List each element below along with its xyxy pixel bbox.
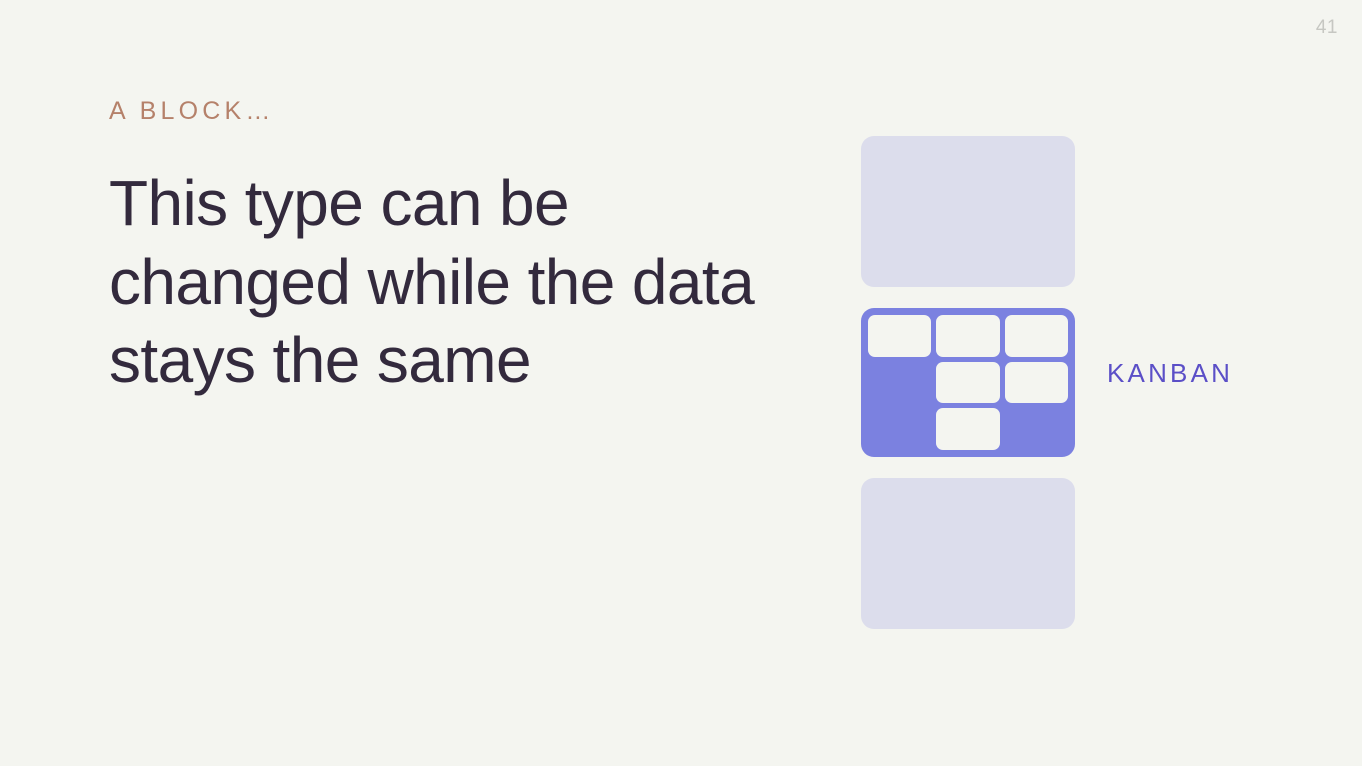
eyebrow-label: A BLOCK… <box>109 96 789 126</box>
page-number: 41 <box>1316 18 1338 37</box>
placeholder-block-bottom <box>861 478 1075 629</box>
graphic-column <box>861 136 1075 629</box>
kanban-label: KANBAN <box>1107 360 1233 386</box>
text-column: A BLOCK… This type can be changed while … <box>109 96 789 400</box>
block-spacer-top <box>861 287 1075 308</box>
kanban-cell-empty <box>1005 408 1068 450</box>
kanban-grid <box>868 315 1068 450</box>
placeholder-block-top <box>861 136 1075 287</box>
kanban-cell <box>1005 362 1068 404</box>
slide-canvas: 41 A BLOCK… This type can be changed whi… <box>0 0 1362 766</box>
page-title: This type can be changed while the data … <box>109 164 769 400</box>
kanban-cell <box>936 362 999 404</box>
kanban-cell <box>936 315 999 357</box>
kanban-cell-empty <box>868 408 931 450</box>
kanban-cell <box>936 408 999 450</box>
kanban-cell <box>1005 315 1068 357</box>
kanban-card[interactable] <box>861 308 1075 457</box>
kanban-cell-empty <box>868 362 931 404</box>
kanban-cell <box>868 315 931 357</box>
block-spacer-bottom <box>861 457 1075 478</box>
